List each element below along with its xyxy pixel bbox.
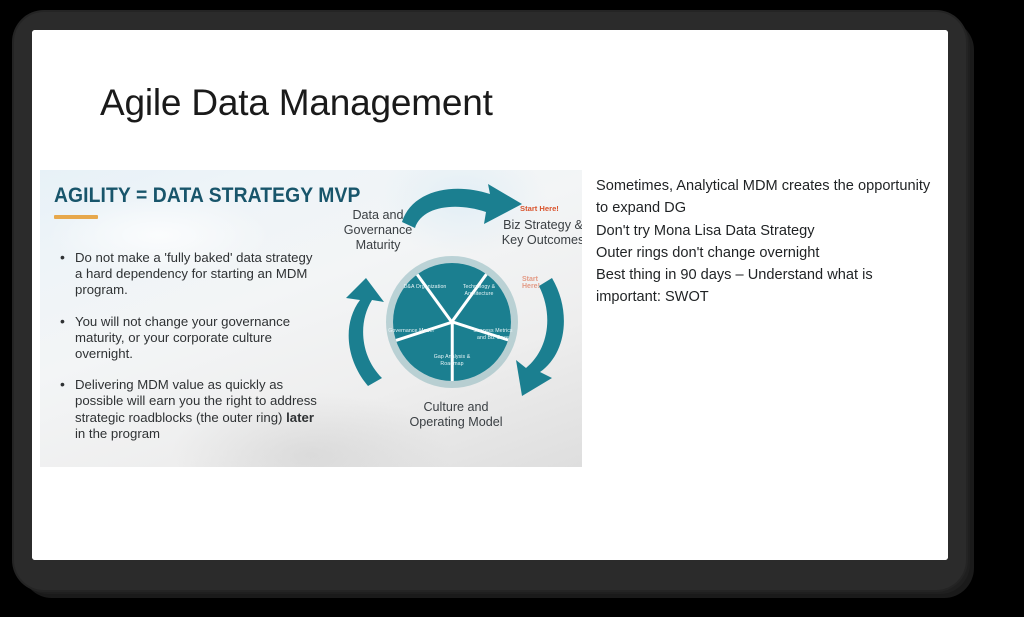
- pie-segment-label-gap-analysis: Gap Analysis & Roadmap: [429, 354, 475, 367]
- agility-image-panel: AGILITY = DATA STRATEGY MVP Do not make …: [40, 170, 582, 467]
- outer-label-data-governance-maturity: Data and Governance Maturity: [326, 208, 430, 253]
- bullet-list: Do not make a 'fully baked' data strateg…: [58, 250, 320, 457]
- pie-segment-label-da-organization: D&A Organization: [402, 284, 448, 291]
- screenshot-root: Agile Data Management AGILITY = DATA STR…: [0, 0, 1024, 617]
- outer-label-culture-operating-model: Culture and Operating Model: [408, 400, 504, 430]
- bullet-text: You will not change your governance matu…: [75, 314, 290, 361]
- note-line: Don't try Mona Lisa Data Strategy: [596, 220, 936, 242]
- list-item: You will not change your governance matu…: [58, 314, 320, 363]
- speaker-notes: Sometimes, Analytical MDM creates the op…: [596, 175, 936, 309]
- panel-heading: AGILITY = DATA STRATEGY MVP: [54, 184, 360, 208]
- pie-divider: [416, 274, 453, 323]
- bullet-text: Delivering MDM value as quickly as possi…: [75, 377, 317, 424]
- note-line: Sometimes, Analytical MDM creates the op…: [596, 175, 936, 220]
- list-item: Delivering MDM value as quickly as possi…: [58, 377, 320, 442]
- pie-segment-label-technology-architecture: Technology & Architecture: [456, 284, 502, 297]
- panel-accent-rule: [54, 215, 98, 219]
- list-item: Do not make a 'fully baked' data strateg…: [58, 250, 320, 299]
- page-title: Agile Data Management: [100, 82, 493, 124]
- presentation-slide: Agile Data Management AGILITY = DATA STR…: [32, 30, 948, 560]
- start-here-label: Start Here!: [520, 204, 559, 213]
- bullet-text: Do not make a 'fully baked' data strateg…: [75, 250, 312, 297]
- slide-viewport: Agile Data Management AGILITY = DATA STR…: [32, 30, 948, 560]
- cycle-arrow-left-icon: [332, 278, 394, 390]
- agility-cycle-diagram: D&A Organization Technology & Architectu…: [320, 178, 582, 463]
- pie-divider: [451, 322, 454, 381]
- pie-divider: [451, 274, 488, 323]
- note-line: Outer rings don't change overnight: [596, 242, 936, 264]
- start-here-label-secondary: Start Here!: [522, 276, 548, 290]
- bullet-text-emphasis: later: [286, 410, 314, 425]
- bullet-text-tail: in the program: [75, 426, 160, 441]
- cycle-arrow-bottom-right-icon: [506, 274, 576, 398]
- note-line: Best thing in 90 days – Understand what …: [596, 264, 936, 309]
- pie-segment-label-governance-model: Governance Model: [388, 328, 434, 335]
- pie-segment-label-success-metrics: Success Metrics and Biz Case: [470, 328, 516, 341]
- device-bezel: Agile Data Management AGILITY = DATA STR…: [14, 12, 966, 590]
- outer-label-biz-strategy: Biz Strategy & Key Outcomes: [500, 218, 582, 248]
